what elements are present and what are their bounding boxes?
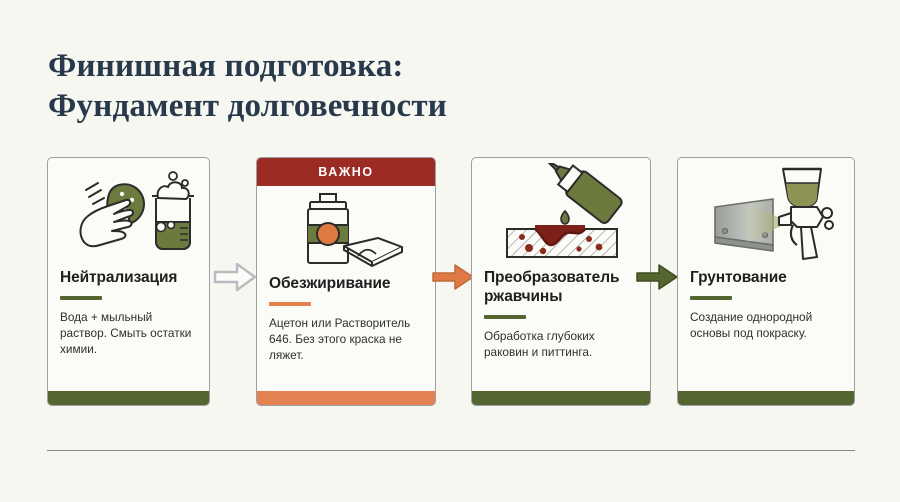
step-title: Обезжиривание bbox=[269, 274, 423, 293]
step-card-degreasing[interactable]: ВАЖНО bbox=[256, 157, 436, 406]
step-title: Грунтование bbox=[690, 268, 842, 287]
step-card-priming[interactable]: Грунтование Создание однородной основы п… bbox=[677, 157, 855, 406]
step-description: Ацетон или Растворитель 646. Без этого к… bbox=[269, 315, 423, 363]
bottle-dripping-rust-pit-icon bbox=[472, 158, 650, 268]
card-body: Обезжиривание Ацетон или Растворитель 64… bbox=[257, 274, 435, 363]
status-badge-important: ВАЖНО bbox=[257, 158, 435, 186]
spray-gun-panel-icon bbox=[678, 158, 854, 268]
step-card-neutralization[interactable]: Нейтрализация Вода + мыльный раствор. См… bbox=[47, 157, 210, 406]
step-description: Создание однородной основы под покраску. bbox=[690, 309, 842, 341]
step-card-rust-converter[interactable]: Преобразователь ржавчины Обработка глубо… bbox=[471, 157, 651, 406]
page-title-line-1: Финишная подготовка: bbox=[48, 46, 748, 86]
card-footer-bar bbox=[472, 391, 650, 405]
card-footer-bar bbox=[48, 391, 209, 405]
arrow-right-orange-icon bbox=[431, 261, 475, 293]
hand-sponge-beaker-icon bbox=[48, 158, 209, 268]
page-title-line-2: Фундамент долговечности bbox=[48, 86, 748, 126]
step-description: Обработка глубоких раковин и питтинга. bbox=[484, 328, 638, 360]
slide-root: Финишная подготовка: Фундамент долговечн… bbox=[0, 0, 900, 502]
card-body: Грунтование Создание однородной основы п… bbox=[678, 268, 854, 341]
card-footer-bar bbox=[257, 391, 435, 405]
accent-bar bbox=[269, 302, 311, 306]
arrow-right-green-icon bbox=[635, 261, 679, 293]
card-body: Нейтрализация Вода + мыльный раствор. См… bbox=[48, 268, 209, 357]
card-footer-bar bbox=[678, 391, 854, 405]
card-body: Преобразователь ржавчины Обработка глубо… bbox=[472, 268, 650, 360]
accent-bar bbox=[484, 315, 526, 319]
process-flow: Нейтрализация Вода + мыльный раствор. См… bbox=[47, 157, 855, 406]
step-title-line-2: ржавчины bbox=[484, 287, 638, 306]
accent-bar bbox=[690, 296, 732, 300]
bottom-divider bbox=[47, 450, 855, 451]
step-description: Вода + мыльный раствор. Смыть остатки хи… bbox=[60, 309, 197, 357]
step-title: Нейтрализация bbox=[60, 268, 197, 287]
accent-bar bbox=[60, 296, 102, 300]
page-title: Финишная подготовка: Фундамент долговечн… bbox=[48, 46, 748, 126]
solvent-can-cloth-icon bbox=[257, 186, 435, 274]
step-title: Преобразователь bbox=[484, 268, 638, 287]
arrow-right-outline-icon bbox=[213, 261, 257, 293]
